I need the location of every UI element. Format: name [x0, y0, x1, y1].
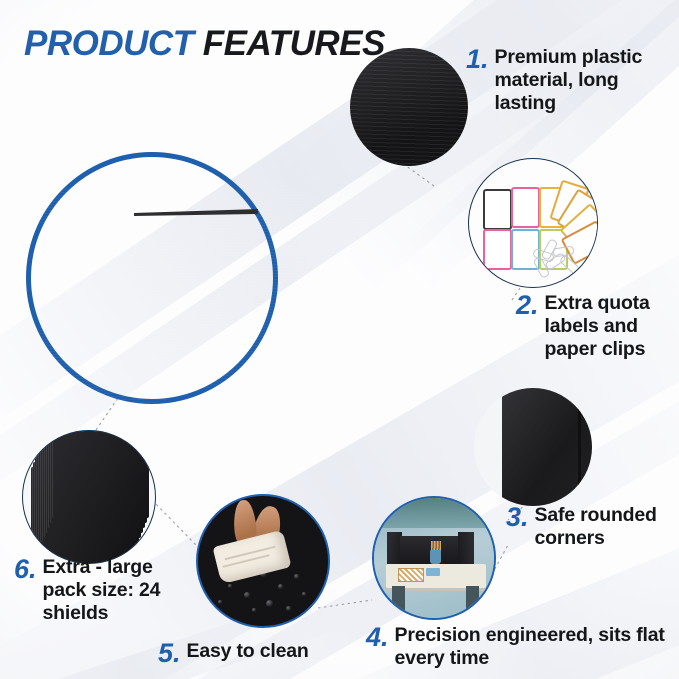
callout-4-number: 4. — [366, 624, 389, 650]
water-droplet — [278, 584, 283, 589]
water-droplet — [286, 606, 291, 611]
desk-leg — [392, 586, 405, 620]
callout-4-text: Precision engineered, sits flat every ti… — [395, 624, 666, 670]
feature-image-easy-to-clean — [196, 494, 330, 628]
title-word-product: PRODUCT — [24, 24, 194, 63]
panel-seam — [578, 388, 581, 506]
callout-6: 6. Extra - large pack size: 24 shields — [14, 556, 184, 625]
callout-6-number: 6. — [14, 556, 37, 582]
water-droplet — [228, 584, 232, 588]
callout-2: 2. Extra quota labels and paper clips — [516, 292, 679, 361]
feature-image-desk-scene — [372, 496, 496, 620]
callout-1-text: Premium plastic material, long lasting — [495, 46, 676, 115]
shield-back-panel — [134, 214, 257, 409]
cleaning-cloth — [212, 530, 291, 584]
shield-left-panel — [40, 177, 135, 409]
page-title: PRODUCT FEATURES — [24, 26, 385, 61]
callout-5-number: 5. — [158, 640, 181, 666]
feature-image-rounded-corner — [474, 388, 592, 506]
desk-leg — [466, 586, 479, 620]
product-trifold-shield — [40, 165, 385, 435]
feature-image-labels-and-paperclips — [468, 158, 598, 288]
paper-note — [426, 568, 440, 576]
callout-1: 1. Premium plastic material, long lastin… — [466, 46, 676, 115]
label-swatch — [483, 229, 512, 270]
water-droplet — [244, 592, 250, 598]
callout-4: 4. Precision engineered, sits flat every… — [366, 624, 666, 670]
water-droplet — [252, 608, 256, 612]
title-word-features: FEATURES — [203, 24, 385, 63]
label-swatch — [483, 189, 512, 230]
infographic-canvas: PRODUCT FEATURES — [0, 0, 679, 679]
callout-3: 3. Safe rounded corners — [506, 504, 679, 550]
feature-image-material-texture — [350, 48, 468, 166]
callout-5-text: Easy to clean — [187, 640, 309, 663]
callout-6-text: Extra - large pack size: 24 shields — [43, 556, 184, 625]
callout-2-number: 2. — [516, 292, 539, 318]
water-droplet — [218, 600, 222, 604]
callout-3-text: Safe rounded corners — [535, 504, 679, 550]
water-droplet — [302, 592, 306, 596]
shield-stack — [31, 430, 156, 564]
feature-image-shield-stack — [22, 430, 156, 564]
chalkboard — [374, 498, 494, 528]
callout-2-text: Extra quota labels and paper clips — [545, 292, 679, 361]
callout-3-number: 3. — [506, 504, 529, 530]
callout-1-number: 1. — [466, 46, 489, 72]
pencil-cup — [430, 550, 441, 564]
water-droplet — [266, 600, 273, 607]
water-droplet — [294, 574, 299, 579]
notebook — [398, 568, 424, 582]
callout-5: 5. Easy to clean — [158, 640, 348, 666]
label-swatch — [511, 187, 540, 228]
stack-sheet — [53, 430, 149, 518]
shield-right-panel — [256, 170, 368, 394]
